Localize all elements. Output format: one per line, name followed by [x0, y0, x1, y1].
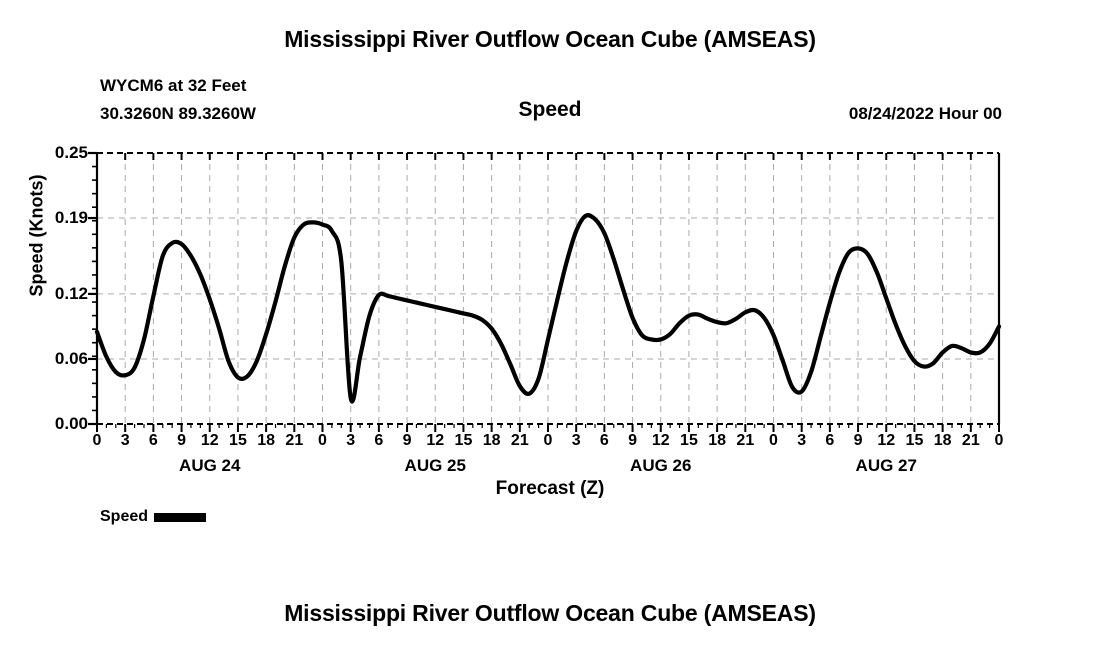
x-axis-tick-label: 18: [708, 432, 726, 450]
x-axis-tick-label: 21: [511, 432, 529, 450]
y-axis-tick-label: 0.12: [28, 284, 88, 304]
x-axis-day-label: AUG 27: [856, 456, 917, 476]
x-axis-tick-label: 21: [285, 432, 303, 450]
x-axis-day-label: AUG 25: [405, 456, 466, 476]
x-axis-tick-label: 18: [257, 432, 275, 450]
x-axis-tick-label: 0: [318, 432, 327, 450]
x-axis-tick-label: 3: [572, 432, 581, 450]
legend: Speed: [100, 508, 206, 526]
x-axis-tick-label: 21: [962, 432, 980, 450]
x-axis-tick-label: 15: [906, 432, 924, 450]
x-axis-tick-label: 9: [628, 432, 637, 450]
plot-area: Speed (Knots) 0.000.060.120.190.25 03691…: [0, 0, 1100, 650]
x-axis-tick-label: 3: [797, 432, 806, 450]
x-axis-tick-label: 0: [544, 432, 553, 450]
x-axis-day-label: AUG 24: [179, 456, 240, 476]
x-axis-tick-label: 18: [934, 432, 952, 450]
x-axis-tick-label: 15: [680, 432, 698, 450]
x-axis-tick-label: 21: [736, 432, 754, 450]
y-axis-tick-labels: 0.000.060.120.190.25: [28, 0, 88, 650]
x-axis-tick-label: 3: [346, 432, 355, 450]
x-axis-tick-label: 9: [177, 432, 186, 450]
x-axis-tick-label: 6: [825, 432, 834, 450]
y-axis-tick-label: 0.25: [28, 143, 88, 163]
x-axis-tick-label: 6: [374, 432, 383, 450]
x-axis-tick-label: 9: [854, 432, 863, 450]
legend-label: Speed: [100, 508, 148, 526]
x-axis-tick-label: 15: [455, 432, 473, 450]
x-axis-tick-label: 6: [600, 432, 609, 450]
y-axis-tick-label: 0.00: [28, 414, 88, 434]
x-axis-tick-label: 0: [995, 432, 1004, 450]
x-axis-tick-label: 12: [201, 432, 219, 450]
x-axis-title: Forecast (Z): [0, 478, 1100, 500]
x-axis-tick-label: 0: [93, 432, 102, 450]
x-axis-tick-label: 6: [149, 432, 158, 450]
footer-title: Mississippi River Outflow Ocean Cube (AM…: [0, 600, 1100, 627]
x-axis-day-label: AUG 26: [630, 456, 691, 476]
x-axis-tick-label: 12: [652, 432, 670, 450]
x-axis-tick-label: 9: [403, 432, 412, 450]
x-axis-tick-label: 12: [877, 432, 895, 450]
y-axis-tick-label: 0.19: [28, 208, 88, 228]
line-chart-svg: [0, 0, 1100, 650]
x-axis-tick-label: 12: [426, 432, 444, 450]
x-axis-tick-label: 18: [483, 432, 501, 450]
y-axis-tick-label: 0.06: [28, 349, 88, 369]
chart-page: Mississippi River Outflow Ocean Cube (AM…: [0, 0, 1100, 650]
x-axis-tick-label: 15: [229, 432, 247, 450]
x-axis-tick-label: 0: [769, 432, 778, 450]
legend-color-swatch: [154, 513, 206, 522]
x-axis-tick-label: 3: [121, 432, 130, 450]
